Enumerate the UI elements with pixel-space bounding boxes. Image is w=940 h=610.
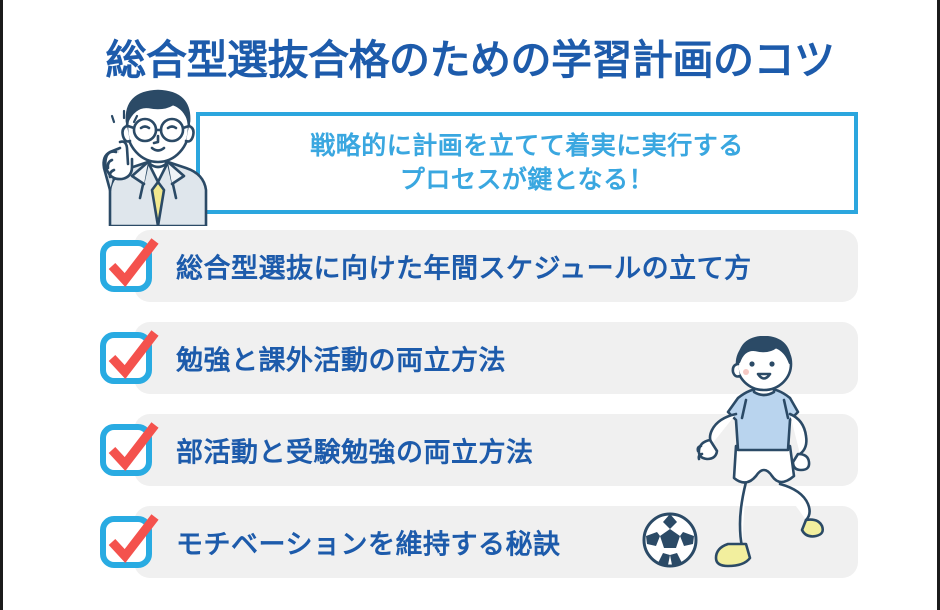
checkbox-checked-icon[interactable] <box>98 327 160 389</box>
checkbox-checked-icon[interactable] <box>98 511 160 573</box>
list-item-label: 総合型選抜に向けた年間スケジュールの立て方 <box>176 247 752 286</box>
canvas-left-edge <box>0 0 3 610</box>
soccer-ball-icon <box>641 511 699 569</box>
list-item-label: モチベーションを維持する秘訣 <box>176 523 560 562</box>
checkbox-checked-icon[interactable] <box>98 419 160 481</box>
list-item-label: 勉強と課外活動の両立方法 <box>176 339 506 378</box>
page-title: 総合型選抜合格のための学習計画のコツ <box>0 26 940 86</box>
checkbox-checked-icon[interactable] <box>98 235 160 297</box>
list-item[interactable]: 総合型選抜に向けた年間スケジュールの立て方 <box>134 230 858 302</box>
teacher-pointing-icon <box>72 78 232 226</box>
running-boy-icon <box>694 336 834 568</box>
list-item-label: 部活動と受験勉強の両立方法 <box>176 431 534 470</box>
